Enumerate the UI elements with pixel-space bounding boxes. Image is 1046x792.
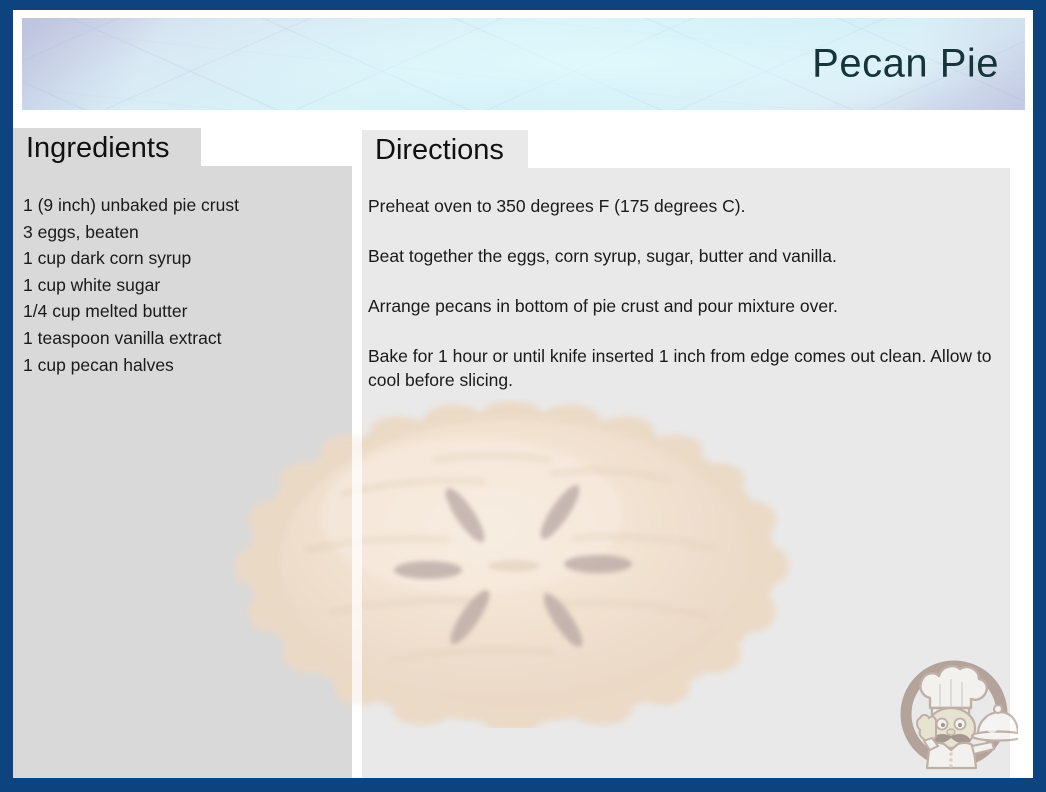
ingredients-heading: Ingredients — [13, 134, 170, 163]
recipe-title: Pecan Pie — [812, 42, 999, 87]
direction-step: Bake for 1 hour or until knife inserted … — [368, 344, 1000, 392]
direction-step: Arrange pecans in bottom of pie crust an… — [368, 294, 1000, 318]
ingredients-header-tab: Ingredients — [13, 128, 201, 168]
list-item: 1 teaspoon vanilla extract — [23, 325, 343, 352]
chef-logo — [896, 646, 1018, 772]
direction-step: Beat together the eggs, corn syrup, suga… — [368, 244, 1000, 268]
ingredients-list: 1 (9 inch) unbaked pie crust 3 eggs, bea… — [23, 192, 343, 378]
pie-illustration — [222, 398, 802, 728]
list-item: 3 eggs, beaten — [23, 219, 343, 246]
direction-step: Preheat oven to 350 degrees F (175 degre… — [368, 194, 1000, 218]
recipe-slide: Pecan Pie — [0, 0, 1046, 792]
list-item: 1 cup pecan halves — [23, 352, 343, 379]
list-item: 1/4 cup melted butter — [23, 298, 343, 325]
list-item: 1 (9 inch) unbaked pie crust — [23, 192, 343, 219]
directions-header-tab: Directions — [362, 130, 528, 170]
list-item: 1 cup dark corn syrup — [23, 245, 343, 272]
directions-steps: Preheat oven to 350 degrees F (175 degre… — [368, 194, 1000, 418]
title-banner: Pecan Pie — [22, 18, 1025, 110]
panel-divider — [352, 166, 362, 778]
list-item: 1 cup white sugar — [23, 272, 343, 299]
directions-heading: Directions — [362, 136, 504, 165]
